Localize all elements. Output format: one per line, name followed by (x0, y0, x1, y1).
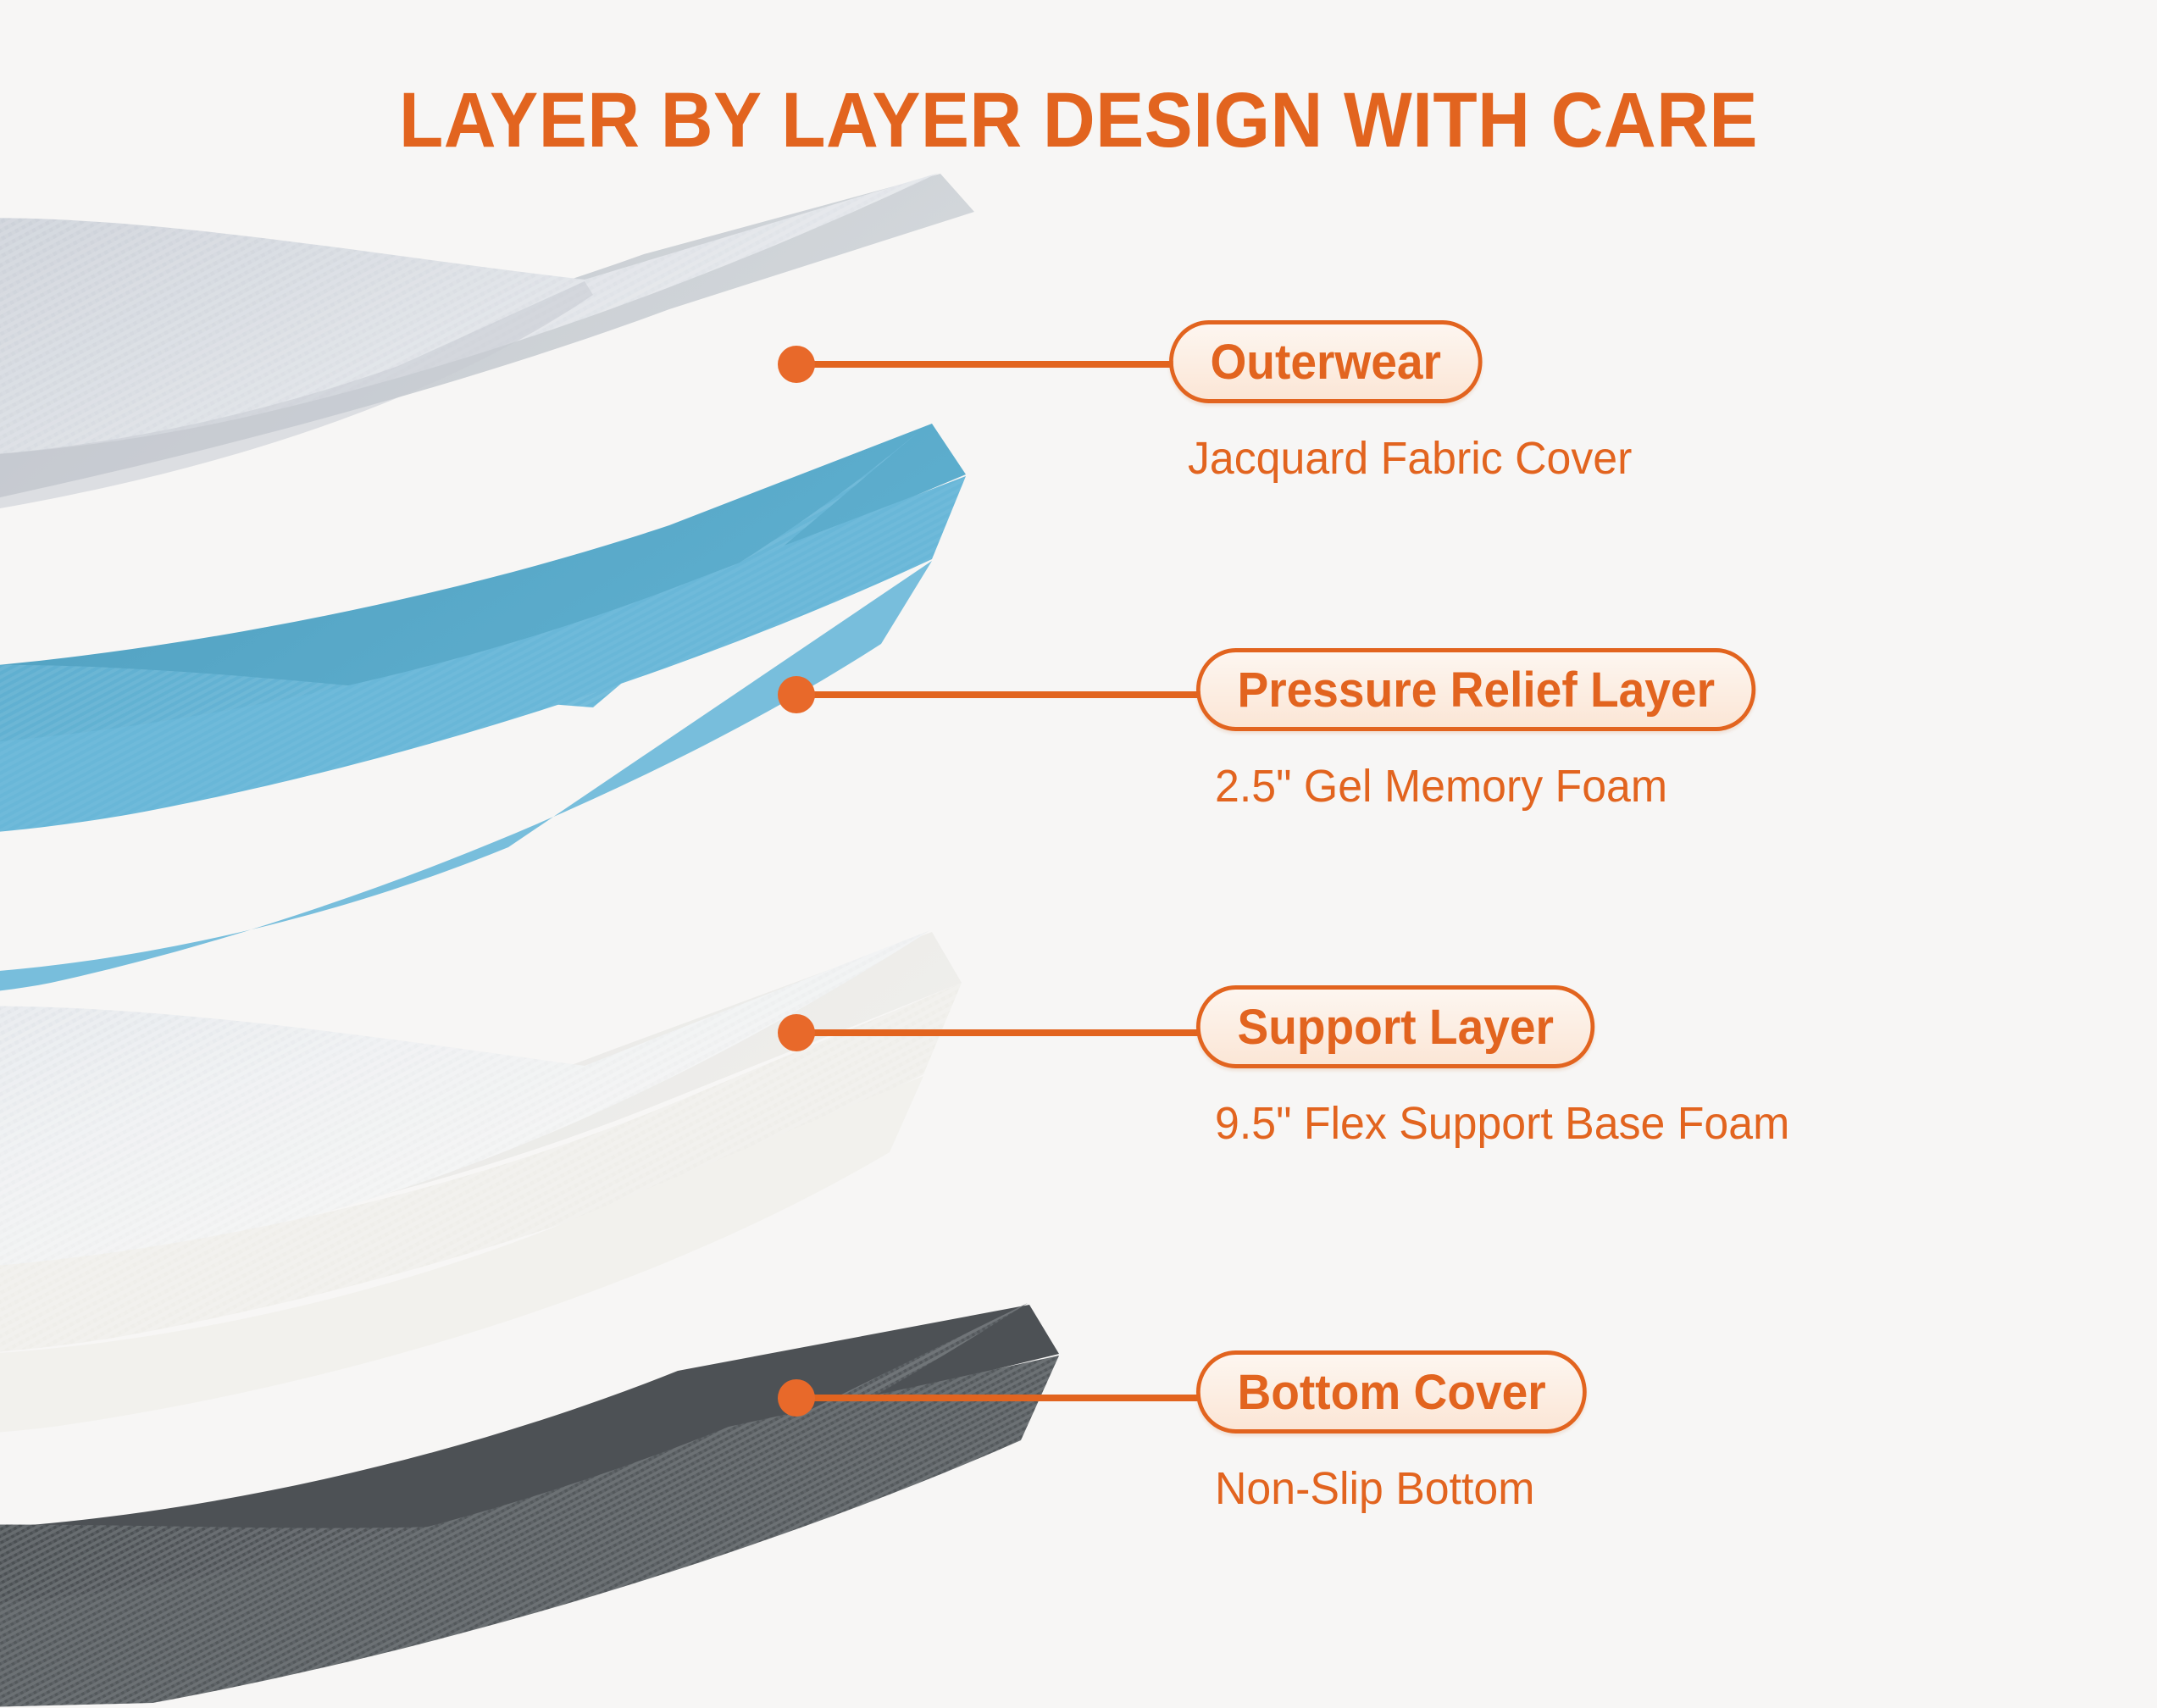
dot-marker-pressure-relief (778, 676, 815, 713)
infographic-root: LAYER BY LAYER DESIGN WITH CARE (0, 0, 2157, 1708)
dot-marker-outerwear (778, 346, 815, 383)
callout-pressure-relief: Pressure Relief Layer 2.5" Gel Memory Fo… (1196, 648, 1785, 812)
badge-pressure-relief-layer[interactable]: Pressure Relief Layer (1196, 648, 1755, 731)
mattress-layers-illustration (0, 0, 1237, 1708)
page-title: LAYER BY LAYER DESIGN WITH CARE (75, 81, 2082, 159)
description-pressure-relief-layer: 2.5" Gel Memory Foam (1215, 760, 1762, 812)
layer-shape-support (0, 930, 962, 1435)
layer-shape-outerwear (0, 173, 974, 517)
callout-bottom-cover: Bottom Cover Non-Slip Bottom (1196, 1350, 1607, 1515)
badge-bottom-cover[interactable]: Bottom Cover (1196, 1350, 1587, 1433)
leader-lines-group (0, 0, 2157, 1708)
description-outerwear: Jacquard Fabric Cover (1188, 432, 1632, 485)
callout-outerwear: Outerwear Jacquard Fabric Cover (1169, 320, 1650, 485)
layer-shape-pressure-relief (0, 422, 966, 995)
description-support-layer: 9.5" Flex Support Base Foam (1215, 1097, 1789, 1150)
layer-shape-bottom-cover (0, 1303, 1059, 1708)
dot-marker-bottom-cover (778, 1379, 815, 1417)
badge-support-layer[interactable]: Support Layer (1196, 985, 1594, 1068)
dot-marker-support (778, 1014, 815, 1051)
badge-outerwear[interactable]: Outerwear (1169, 320, 1482, 403)
callout-support: Support Layer 9.5" Flex Support Base Foa… (1196, 985, 1814, 1150)
description-bottom-cover: Non-Slip Bottom (1215, 1462, 1592, 1515)
